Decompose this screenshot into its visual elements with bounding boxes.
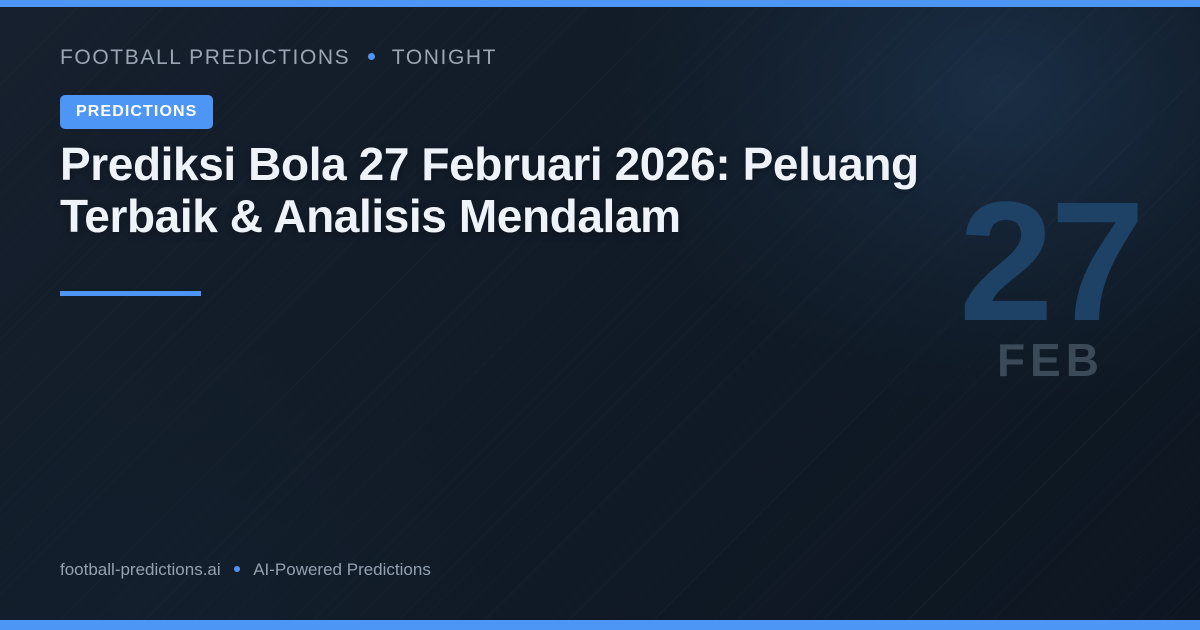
eyebrow-timing: TONIGHT — [392, 46, 497, 69]
footer-site-name: football-predictions.ai — [60, 560, 221, 579]
page-title: Prediksi Bola 27 Februari 2026: Peluang … — [60, 138, 1060, 242]
top-accent-bar — [0, 0, 1200, 7]
footer: football-predictions.ai AI-Powered Predi… — [60, 560, 431, 580]
bullet-separator-icon — [368, 53, 375, 60]
eyebrow: FOOTBALL PREDICTIONS TONIGHT — [60, 46, 497, 70]
bottom-accent-bar — [0, 620, 1200, 630]
accent-divider — [60, 291, 201, 296]
footer-tagline: AI-Powered Predictions — [253, 560, 431, 579]
social-card-canvas: 27 FEB FOOTBALL PREDICTIONS TONIGHT PRED… — [0, 0, 1200, 630]
eyebrow-category: FOOTBALL PREDICTIONS — [60, 46, 350, 69]
status-badge: PREDICTIONS — [60, 95, 213, 129]
card-content: FOOTBALL PREDICTIONS TONIGHT PREDICTIONS… — [60, 0, 1150, 630]
bullet-separator-icon — [234, 566, 240, 572]
